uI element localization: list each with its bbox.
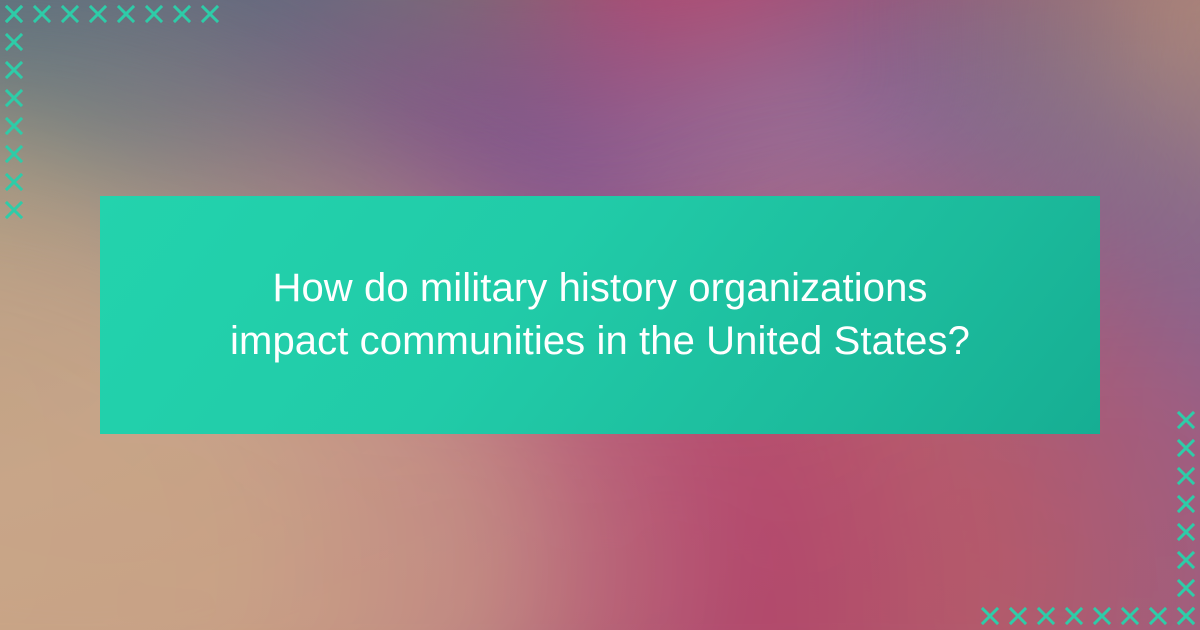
social-share-card: How do military history organizations im… [0, 0, 1200, 630]
title-banner: How do military history organizations im… [100, 196, 1100, 434]
page-title: How do military history organizations im… [100, 262, 1100, 368]
